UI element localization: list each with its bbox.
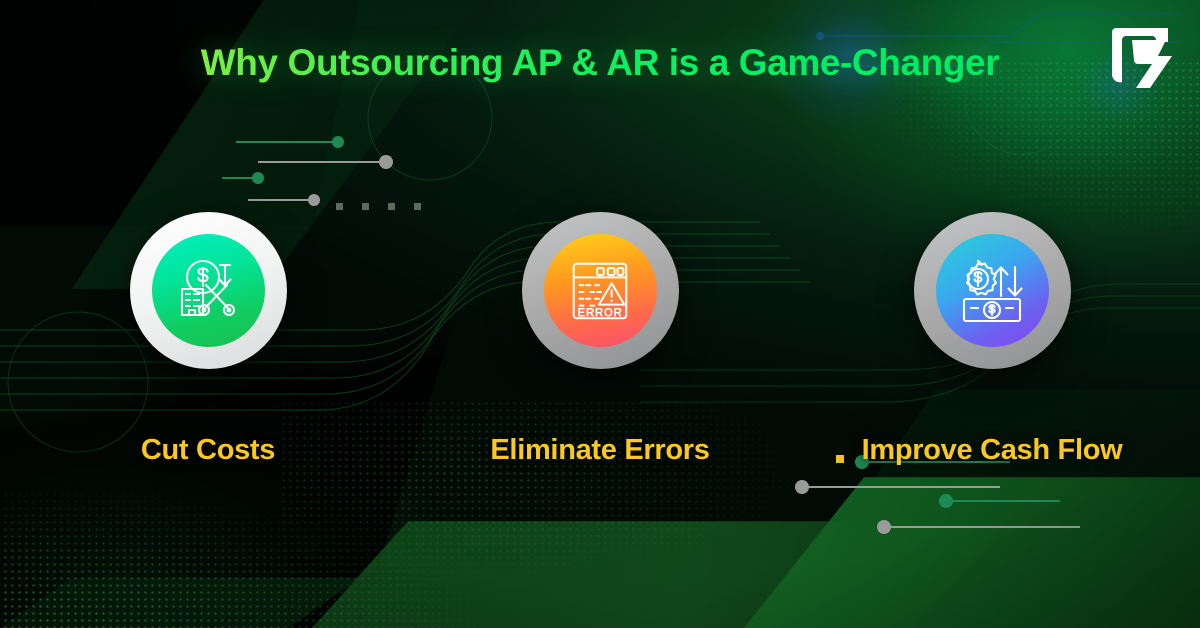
icon-ring [914,212,1071,369]
page-title: Why Outsourcing AP & AR is a Game-Change… [0,42,1200,84]
benefit-card-cut-costs[interactable]: Cut Costs [118,212,298,467]
error-window-icon: ERROR [565,256,635,326]
icon-disc [936,234,1049,347]
error-text: ERROR [577,306,622,319]
infographic-canvas: Why Outsourcing AP & AR is a Game-Change… [0,0,1200,628]
benefit-card-improve-cash-flow[interactable]: Improve Cash Flow [902,212,1082,467]
icon-ring: ERROR [522,212,679,369]
benefit-card-row: Cut Costs [0,212,1200,467]
icon-disc [152,234,265,347]
connector-lines-top [222,136,421,210]
icon-disc: ERROR [544,234,657,347]
benefit-label: Cut Costs [141,434,275,467]
benefit-label: Eliminate Errors [490,434,709,467]
icon-ring [130,212,287,369]
cost-reduction-icon [172,255,244,327]
benefit-label: Improve Cash Flow [862,434,1123,467]
cash-flow-icon [956,255,1028,327]
benefit-card-eliminate-errors[interactable]: ERROR Eliminate Errors [510,212,690,467]
